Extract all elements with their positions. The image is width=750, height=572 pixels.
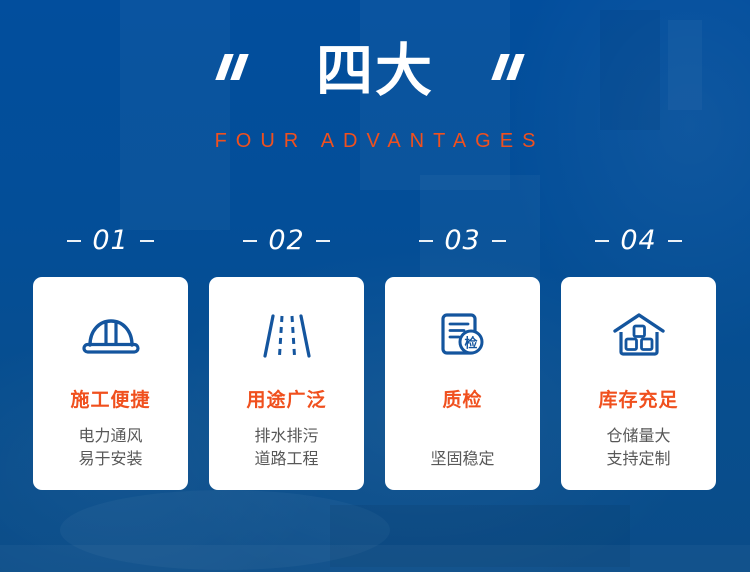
road-icon (260, 310, 314, 362)
number-label-04: 04 (561, 226, 716, 256)
bg-texture-shape (60, 490, 390, 570)
inspection-document-icon: 检 (437, 310, 489, 362)
number-text: 04 (620, 226, 656, 256)
card-description: 坚固稳定 (430, 448, 494, 471)
header: 四大 FOUR ADVANTAGES (0, 38, 750, 152)
number-text: 01 (92, 226, 128, 256)
dash-left-icon (595, 240, 609, 242)
dash-right-icon (140, 240, 154, 242)
dash-left-icon (67, 240, 81, 242)
card-description: 排水排污 道路工程 (254, 425, 318, 471)
quote-mark-left-icon (208, 54, 264, 88)
card-title: 施工便捷 (70, 390, 150, 412)
number-text: 02 (268, 226, 304, 256)
card-description-line: 排水排污 (254, 425, 318, 448)
number-label-01: 01 (33, 226, 188, 256)
number-text: 03 (444, 226, 480, 256)
number-label-02: 02 (209, 226, 364, 256)
card-description-line: 支持定制 (606, 448, 670, 471)
card-description-line: 易于安装 (78, 448, 142, 471)
title-row: 四大 (0, 38, 750, 104)
advantage-card-2[interactable]: 用途广泛 排水排污 道路工程 (209, 277, 364, 490)
hard-hat-icon (80, 310, 142, 362)
dash-right-icon (316, 240, 330, 242)
number-label-03: 03 (385, 226, 540, 256)
advantage-card-4[interactable]: 库存充足 仓储量大 支持定制 (561, 277, 716, 490)
page-subtitle: FOUR ADVANTAGES (0, 130, 750, 152)
page-title: 四大 (264, 38, 486, 104)
card-title: 质检 (442, 390, 482, 412)
card-description: 仓储量大 支持定制 (606, 425, 670, 471)
dash-left-icon (243, 240, 257, 242)
svg-text:检: 检 (464, 336, 477, 352)
card-description-line: 道路工程 (254, 448, 318, 471)
bg-texture-shape (330, 505, 630, 567)
advantage-card-1[interactable]: 施工便捷 电力通风 易于安装 (33, 277, 188, 490)
number-row: 01 02 03 04 (33, 226, 717, 256)
warehouse-icon (610, 310, 668, 362)
card-title: 用途广泛 (246, 390, 326, 412)
advantage-card-list: 施工便捷 电力通风 易于安装 用途广泛 排水排污 道路工程 (33, 277, 717, 490)
promo-banner: 四大 FOUR ADVANTAGES 01 02 03 04 (0, 0, 750, 572)
bg-texture-shape (0, 545, 750, 572)
dash-left-icon (419, 240, 433, 242)
quote-mark-right-icon (486, 54, 542, 88)
advantage-card-3[interactable]: 检 质检 坚固稳定 (385, 277, 540, 490)
card-description-line: 坚固稳定 (430, 448, 494, 471)
card-title: 库存充足 (598, 390, 678, 412)
card-description-line: 仓储量大 (606, 425, 670, 448)
dash-right-icon (668, 240, 682, 242)
card-description-line: 电力通风 (78, 425, 142, 448)
card-description: 电力通风 易于安装 (78, 425, 142, 471)
dash-right-icon (492, 240, 506, 242)
